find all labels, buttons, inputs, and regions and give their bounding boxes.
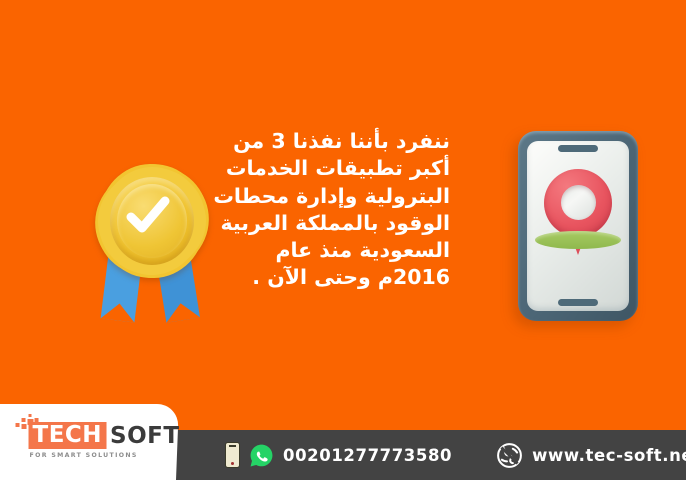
promo-banner: ننفرد بأننا نفذنا 3 من أكبر تطبيقات الخد… [0, 0, 686, 480]
headline-text: ننفرد بأننا نفذنا 3 من أكبر تطبيقات الخد… [218, 128, 450, 292]
globe-icon[interactable] [496, 442, 523, 469]
phone-home-button [558, 299, 598, 306]
phone-speaker [558, 145, 598, 152]
headline-line-6: 2016م وحتى الآن . [218, 264, 450, 291]
logo-wordmark: TECH SOFT [29, 422, 166, 449]
footer-contacts: 00201277773580 www.tec-soft.net [225, 430, 686, 480]
smartphone-map-pin-icon [518, 131, 638, 321]
brand-logo[interactable]: TECH SOFT FOR SMART SOLUTIONS [16, 422, 166, 459]
headline-line-5: السعودية منذ عام [218, 237, 450, 264]
website-url-text[interactable]: www.tec-soft.net [532, 446, 686, 465]
map-pin-base [535, 231, 621, 249]
logo-word-soft: SOFT [110, 424, 180, 448]
logo-tagline: FOR SMART SOLUTIONS [30, 452, 166, 459]
headline-line-1: ننفرد بأننا نفذنا 3 من [218, 128, 450, 155]
logo-panel: TECH SOFT FOR SMART SOLUTIONS [0, 404, 179, 480]
headline-line-2: أكبر تطبيقات الخدمات [218, 155, 450, 182]
headline-line-4: الوقود بالمملكة العربية [218, 210, 450, 237]
medal-rosette [98, 165, 206, 277]
map-pin-hole [561, 185, 596, 220]
pixel-squares-icon [16, 414, 42, 432]
checkmark-icon [125, 196, 171, 236]
headline-line-3: البترولية وإدارة محطات [218, 183, 450, 210]
phone-number-text[interactable]: 00201277773580 [283, 446, 452, 465]
phone-icon [225, 442, 240, 468]
award-medal-icon [88, 163, 216, 321]
whatsapp-icon[interactable] [249, 443, 274, 468]
